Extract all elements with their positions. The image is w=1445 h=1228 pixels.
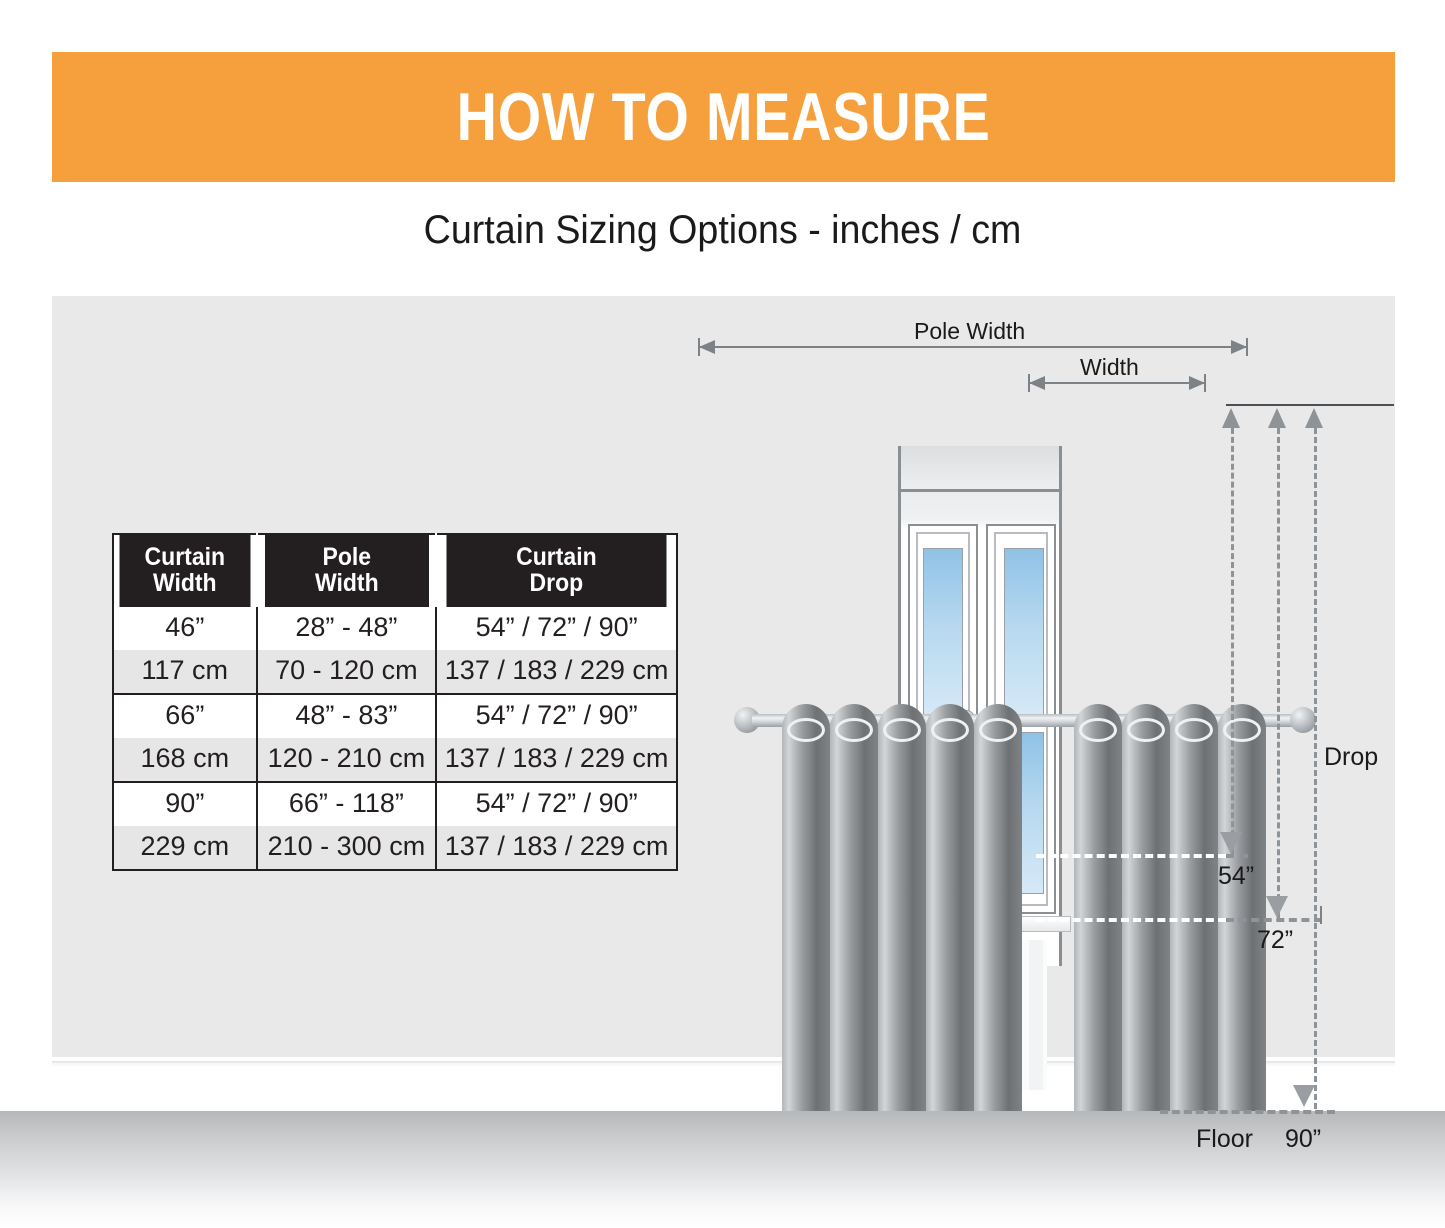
cell-curtain-width: 117 cm xyxy=(113,650,257,694)
cell-curtain-drop: 54” / 72” / 90” xyxy=(436,607,677,650)
cell-pole-width: 120 - 210 cm xyxy=(257,738,437,782)
cell-curtain-width: 66” xyxy=(113,694,257,738)
table-row: 46” 28” - 48” 54” / 72” / 90” xyxy=(113,607,677,650)
eyelet-icon xyxy=(883,718,921,742)
cell-curtain-drop: 137 / 183 / 229 cm xyxy=(436,738,677,782)
curtain-fold xyxy=(830,730,878,1111)
dim-arrow-right xyxy=(1189,376,1205,390)
eyelet-icon xyxy=(931,718,969,742)
curtain-fold xyxy=(878,730,926,1111)
drop-guide-54 xyxy=(1231,428,1234,854)
pole-finial-right xyxy=(1290,707,1316,733)
table-row: 117 cm 70 - 120 cm 137 / 183 / 229 cm xyxy=(113,650,677,694)
table-header-row: Curtain Width Pole Width Curtain Drop xyxy=(113,534,677,607)
page-title: HOW TO MEASURE xyxy=(456,78,990,156)
drop-arrow-down-90 xyxy=(1293,1085,1315,1107)
eyelet-icon xyxy=(1223,718,1261,742)
drop-arrow-up-72 xyxy=(1268,408,1286,428)
cell-pole-width: 210 - 300 cm xyxy=(257,826,437,870)
window-pane xyxy=(923,548,963,718)
cell-pole-width: 48” - 83” xyxy=(257,694,437,738)
table-row: 66” 48” - 83” 54” / 72” / 90” xyxy=(113,694,677,738)
drop-arrow-up-54 xyxy=(1222,408,1240,428)
subtitle: Curtain Sizing Options - inches / cm xyxy=(43,208,1401,253)
curtain-fold xyxy=(926,730,974,1111)
drop-72-label: 72” xyxy=(1257,926,1293,955)
pole-width-label: Pole Width xyxy=(914,318,1025,345)
drop-line-54-white xyxy=(1036,854,1226,858)
floor-line xyxy=(1160,1110,1335,1114)
cell-pole-width: 70 - 120 cm xyxy=(257,650,437,694)
drop-guide-90 xyxy=(1314,428,1317,1111)
table-header-pole-width: Pole Width xyxy=(264,534,429,607)
cell-curtain-width: 46” xyxy=(113,607,257,650)
pole-top-reference-line xyxy=(1226,404,1394,406)
dim-arrow-left xyxy=(699,340,715,354)
width-dimline xyxy=(1029,382,1205,384)
cell-curtain-drop: 137 / 183 / 229 cm xyxy=(436,826,677,870)
floor-label: Floor xyxy=(1196,1125,1253,1154)
cell-curtain-drop: 137 / 183 / 229 cm xyxy=(436,650,677,694)
cell-curtain-width: 90” xyxy=(113,782,257,826)
curtain-sizing-table: Curtain Width Pole Width Curtain Drop 46… xyxy=(112,533,678,871)
pole-width-dimline xyxy=(699,346,1247,348)
curtain-fold xyxy=(782,730,830,1111)
eyelet-icon xyxy=(1079,718,1117,742)
drop-arrow-up-90 xyxy=(1305,408,1323,428)
eyelet-icon xyxy=(1127,718,1165,742)
cell-curtain-width: 168 cm xyxy=(113,738,257,782)
dim-arrow-right xyxy=(1231,340,1247,354)
eyelet-icon xyxy=(787,718,825,742)
window-pane xyxy=(1004,548,1044,718)
table-row: 90” 66” - 118” 54” / 72” / 90” xyxy=(113,782,677,826)
cell-pole-width: 66” - 118” xyxy=(257,782,437,826)
curtain-fold xyxy=(974,730,1022,1111)
dim-arrow-left xyxy=(1029,376,1045,390)
window-head xyxy=(901,446,1059,492)
drop-arrow-down-54 xyxy=(1220,832,1242,854)
cell-curtain-drop: 54” / 72” / 90” xyxy=(436,694,677,738)
header-banner: HOW TO MEASURE xyxy=(52,52,1395,182)
drop-90-label: 90” xyxy=(1285,1125,1321,1154)
cell-curtain-drop: 54” / 72” / 90” xyxy=(436,782,677,826)
cell-curtain-width: 229 cm xyxy=(113,826,257,870)
drop-guide-72 xyxy=(1277,428,1280,918)
table-row: 168 cm 120 - 210 cm 137 / 183 / 229 cm xyxy=(113,738,677,782)
eyelet-icon xyxy=(979,718,1017,742)
drop-line-54 xyxy=(1226,854,1248,858)
drop-line-72-white xyxy=(1036,918,1226,922)
dim-tick xyxy=(1320,906,1322,924)
eyelet-icon xyxy=(1175,718,1213,742)
width-label: Width xyxy=(1080,354,1139,381)
table-header-curtain-drop: Curtain Drop xyxy=(446,534,668,607)
table-row: 229 cm 210 - 300 cm 137 / 183 / 229 cm xyxy=(113,826,677,870)
table-header-curtain-width: Curtain Width xyxy=(119,534,251,607)
drop-54-label: 54” xyxy=(1218,862,1254,891)
drop-line-72 xyxy=(1226,918,1322,922)
table-body: 46” 28” - 48” 54” / 72” / 90” 117 cm 70 … xyxy=(113,607,677,870)
cell-pole-width: 28” - 48” xyxy=(257,607,437,650)
eyelet-icon xyxy=(835,718,873,742)
drop-arrow-down-72 xyxy=(1266,896,1288,918)
drop-label: Drop xyxy=(1324,743,1378,772)
